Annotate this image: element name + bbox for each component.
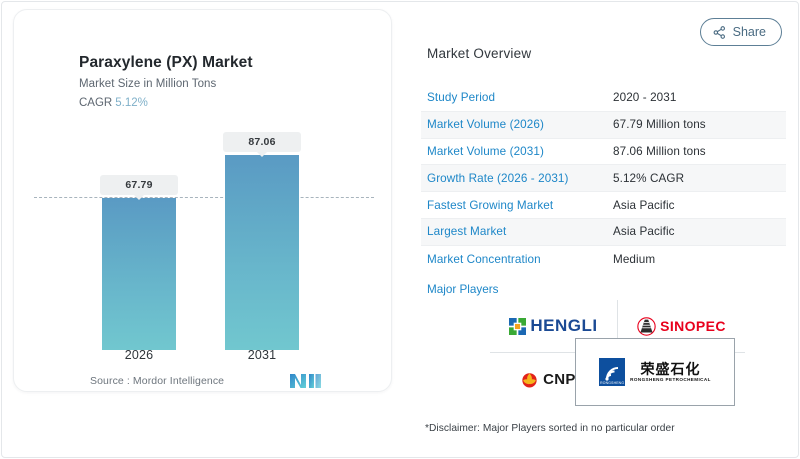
market-overview-table: Study Period 2020 - 2031 Market Volume (… xyxy=(421,85,786,273)
bar-value-label-2031: 87.06 xyxy=(223,132,301,152)
bar-value-label-2026: 67.79 xyxy=(100,175,178,195)
row-value: 2020 - 2031 xyxy=(613,91,677,104)
rongsheng-petrochemical-logo-popup[interactable]: RONGSHENG 荣盛石化 RONGSHENG PETROCHEMICAL xyxy=(575,338,735,406)
major-players-logo-grid: HENGLI SINOPEC xyxy=(490,300,745,405)
row-value: Medium xyxy=(613,253,655,266)
cnpc-mark-icon xyxy=(520,371,539,388)
chart-card: Paraxylene (PX) Market Market Size in Mi… xyxy=(13,9,392,392)
row-key: Study Period xyxy=(427,91,613,104)
share-button[interactable]: Share xyxy=(700,18,782,46)
hengli-logo-text: HENGLI xyxy=(530,316,597,336)
row-value: 5.12% CAGR xyxy=(613,172,684,185)
bar-2026[interactable] xyxy=(102,198,176,350)
rongsheng-logo-text-cn: 荣盛石化 xyxy=(640,362,700,377)
bar-2031[interactable] xyxy=(225,155,299,350)
table-row: Market Concentration Medium xyxy=(421,246,786,273)
x-axis-label-2031: 2031 xyxy=(217,348,307,362)
row-key: Market Concentration xyxy=(427,253,613,266)
market-overview-title: Market Overview xyxy=(427,46,531,61)
table-row: Study Period 2020 - 2031 xyxy=(421,85,786,112)
table-row: Market Volume (2031) 87.06 Million tons xyxy=(421,139,786,166)
major-players-label: Major Players xyxy=(427,283,498,296)
row-value: Asia Pacific xyxy=(613,225,675,238)
mordor-intelligence-logo xyxy=(289,372,321,390)
rongsheng-logo-text-en: RONGSHENG PETROCHEMICAL xyxy=(630,377,711,382)
share-nodes-icon xyxy=(713,26,726,39)
row-value: Asia Pacific xyxy=(613,199,675,212)
row-key: Market Volume (2026) xyxy=(427,118,613,131)
table-row: Fastest Growing Market Asia Pacific xyxy=(421,192,786,219)
row-key: Market Volume (2031) xyxy=(427,145,613,158)
sinopec-logo-text: SINOPEC xyxy=(660,318,726,334)
major-players-disclaimer: *Disclaimer: Major Players sorted in no … xyxy=(425,423,675,434)
rongsheng-mark-icon: RONGSHENG xyxy=(599,358,625,386)
bar-chart-plot: 67.79 87.06 2026 2031 Source : Mordor In… xyxy=(14,10,392,392)
sinopec-mark-icon xyxy=(637,317,656,336)
row-value: 67.79 Million tons xyxy=(613,118,706,131)
market-snapshot-page: Paraxylene (PX) Market Market Size in Mi… xyxy=(0,0,800,459)
share-button-label: Share xyxy=(733,25,766,39)
rongsheng-mark-text: RONGSHENG xyxy=(599,381,625,385)
table-row: Growth Rate (2026 - 2031) 5.12% CAGR xyxy=(421,165,786,192)
row-key: Largest Market xyxy=(427,225,613,238)
chart-source: Source : Mordor Intelligence xyxy=(90,375,224,387)
reference-dashed-line xyxy=(34,197,374,198)
x-axis-label-2026: 2026 xyxy=(94,348,184,362)
row-key: Fastest Growing Market xyxy=(427,199,613,212)
table-row: Market Volume (2026) 67.79 Million tons xyxy=(421,112,786,139)
hengli-mark-icon xyxy=(509,318,526,335)
row-value: 87.06 Million tons xyxy=(613,145,706,158)
table-row: Largest Market Asia Pacific xyxy=(421,219,786,246)
row-key: Growth Rate (2026 - 2031) xyxy=(427,172,613,185)
